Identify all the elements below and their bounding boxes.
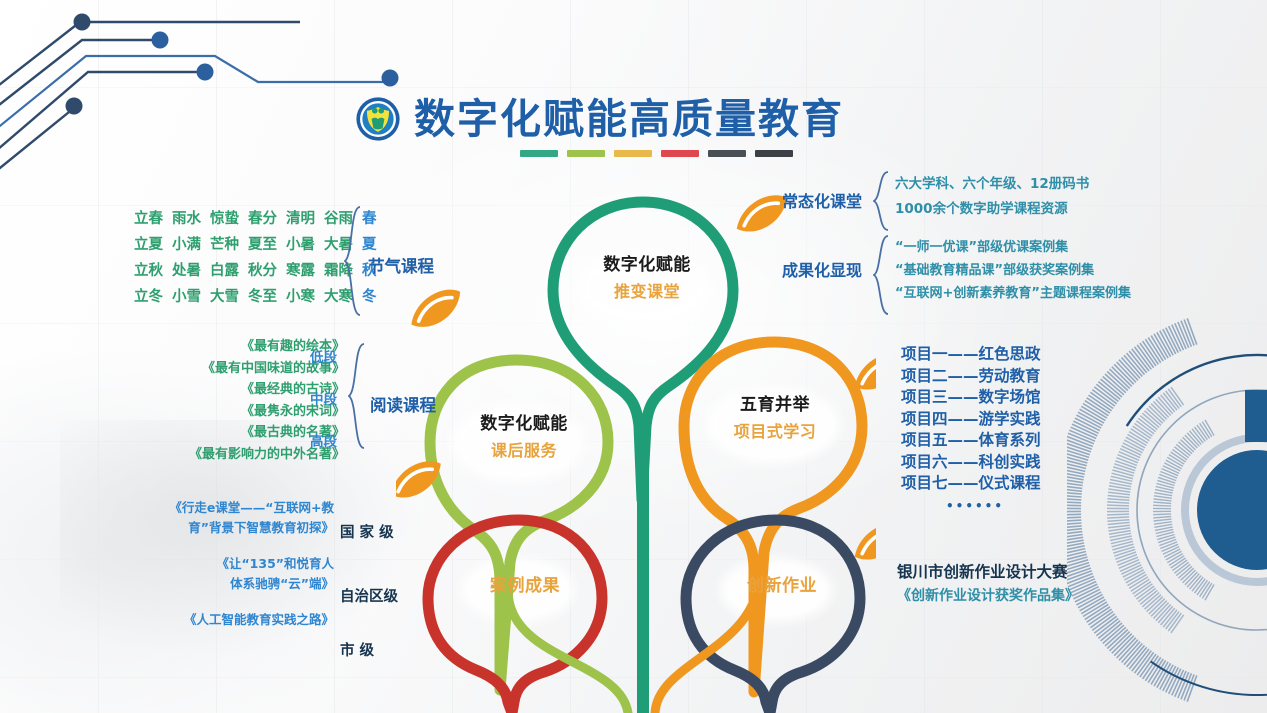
- title-accent-dashes: [520, 150, 793, 157]
- solar-term: 清明: [286, 206, 315, 232]
- normalized-classroom-label: 常态化课堂: [782, 188, 862, 212]
- solar-term: 大雪: [210, 284, 239, 310]
- reading-level: 低段: [310, 346, 337, 366]
- reading-brace: [348, 342, 370, 450]
- contest-subtitle: 《创新作业设计获奖作品集》: [897, 584, 1079, 608]
- contest-title: 银川市创新作业设计大赛: [897, 560, 1079, 584]
- solar-term: 小寒: [286, 284, 315, 310]
- normalized-classroom-items: 六大学科、六个年级、12册码书1000余个数字助学课程资源: [895, 172, 1089, 222]
- solar-term: 小满: [172, 232, 201, 258]
- node-right-line2: 项目式学习: [700, 422, 850, 442]
- solar-term: 处暑: [172, 258, 201, 284]
- solar-term: 立冬: [134, 284, 163, 310]
- case-levels-list: 国 家 级自治区级市 级: [340, 511, 398, 659]
- project-item: 项目三——数字场馆: [901, 387, 1049, 409]
- achievement-item: “基础教育精品课”部级获奖案例集: [895, 259, 1131, 282]
- solar-terms-label: 节气课程: [368, 253, 434, 277]
- solar-terms-row: 立冬小雪大雪冬至小寒大寒冬: [134, 284, 377, 310]
- solar-term: 秋分: [248, 258, 277, 284]
- solar-term: 夏至: [248, 232, 277, 258]
- node-work-label: 创新作业: [707, 576, 857, 597]
- infographic-canvas: 数字化赋能高质量教育: [0, 0, 1267, 713]
- school-emblem-icon: [355, 96, 401, 142]
- normalized-classroom-brace: [873, 170, 893, 232]
- project-item: 项目四——游学实践: [901, 409, 1049, 431]
- node-label-right: 五育并举 项目式学习: [700, 395, 850, 442]
- normalized-classroom-item: 六大学科、六个年级、12册码书: [895, 172, 1089, 197]
- achievement-item: “一师一优课”部级优课案例集: [895, 236, 1131, 259]
- solar-term: 立秋: [134, 258, 163, 284]
- solar-term: 小暑: [286, 232, 315, 258]
- project-item: 项目一——红色思政: [901, 344, 1049, 366]
- case-level: 自治区级: [340, 575, 398, 615]
- achievements-label: 成果化显现: [782, 257, 862, 281]
- projects-list: 项目一——红色思政项目二——劳动教育项目三——数字场馆项目四——游学实践项目五—…: [901, 344, 1049, 513]
- node-label-work: 创新作业: [707, 576, 857, 597]
- reading-level: 中段: [310, 388, 337, 408]
- solar-terms-row: 立春雨水惊蛰春分清明谷雨春: [134, 206, 377, 232]
- title-dash-5: [755, 150, 793, 157]
- reading-label: 阅读课程: [370, 392, 436, 416]
- node-top-line2: 推变课堂: [572, 282, 722, 302]
- normalized-classroom-item: 1000余个数字助学课程资源: [895, 197, 1089, 222]
- case-item: 《人工智能教育实践之路》: [144, 610, 334, 630]
- solar-term: 小雪: [172, 284, 201, 310]
- solar-term: 惊蛰: [210, 206, 239, 232]
- node-right-line1: 五育并举: [700, 395, 850, 416]
- projects-more-indicator: ••••••: [901, 499, 1049, 513]
- solar-term: 立春: [134, 206, 163, 232]
- case-level: 市 级: [340, 639, 398, 659]
- case-title-line: 《让“135”和悦育人: [144, 554, 334, 574]
- solar-term: 芒种: [210, 232, 239, 258]
- title-dash-4: [708, 150, 746, 157]
- solar-term: 立夏: [134, 232, 163, 258]
- solar-terms-list: 立春雨水惊蛰春分清明谷雨春立夏小满芒种夏至小暑大暑夏立秋处暑白露秋分寒露霜降秋立…: [134, 206, 377, 310]
- node-top-line1: 数字化赋能: [572, 255, 722, 276]
- case-item: 《让“135”和悦育人体系驰骋“云”端》: [144, 554, 334, 594]
- title-dash-2: [614, 150, 652, 157]
- case-title-line: 《人工智能教育实践之路》: [144, 610, 334, 630]
- solar-terms-brace: [344, 205, 366, 317]
- node-case-label: 案例成果: [450, 576, 600, 597]
- page-title-block: 数字化赋能高质量教育: [355, 96, 844, 142]
- project-item: 项目七——仪式课程: [901, 473, 1049, 495]
- achievement-item: “互联网+创新素养教育”主题课程案例集: [895, 282, 1131, 305]
- case-titles-list: 《行走e课堂——“互联网+教育”背景下智慧教育初探》《让“135”和悦育人体系驰…: [144, 498, 334, 630]
- case-item: 《行走e课堂——“互联网+教育”背景下智慧教育初探》: [144, 498, 334, 538]
- solar-term: 白露: [210, 258, 239, 284]
- node-label-case: 案例成果: [450, 576, 600, 597]
- achievements-items: “一师一优课”部级优课案例集“基础教育精品课”部级获奖案例集“互联网+创新素养教…: [895, 236, 1131, 305]
- node-label-top: 数字化赋能 推变课堂: [572, 255, 722, 302]
- solar-term: 春分: [248, 206, 277, 232]
- achievements-brace: [873, 234, 893, 316]
- project-item: 项目五——体育系列: [901, 430, 1049, 452]
- node-left-line2: 课后服务: [449, 441, 599, 461]
- project-item: 项目六——科创实践: [901, 452, 1049, 474]
- contest-block: 银川市创新作业设计大赛 《创新作业设计获奖作品集》: [897, 560, 1079, 608]
- reading-level: 高段: [310, 430, 337, 450]
- case-title-line: 育”背景下智慧教育初探》: [144, 518, 334, 538]
- solar-terms-row: 立夏小满芒种夏至小暑大暑夏: [134, 232, 377, 258]
- solar-terms-row: 立秋处暑白露秋分寒露霜降秋: [134, 258, 377, 284]
- reading-levels-list: 低段中段高段: [310, 346, 337, 450]
- page-title: 数字化赋能高质量教育: [414, 99, 844, 140]
- title-dash-1: [567, 150, 605, 157]
- node-label-left: 数字化赋能 课后服务: [449, 414, 599, 461]
- case-title-line: 《行走e课堂——“互联网+教: [144, 498, 334, 518]
- title-dash-0: [520, 150, 558, 157]
- title-dash-3: [661, 150, 699, 157]
- solar-term: 寒露: [286, 258, 315, 284]
- solar-term: 雨水: [172, 206, 201, 232]
- node-left-line1: 数字化赋能: [449, 414, 599, 435]
- case-level: 国 家 级: [340, 511, 398, 551]
- solar-term: 冬至: [248, 284, 277, 310]
- case-title-line: 体系驰骋“云”端》: [144, 574, 334, 594]
- project-item: 项目二——劳动教育: [901, 366, 1049, 388]
